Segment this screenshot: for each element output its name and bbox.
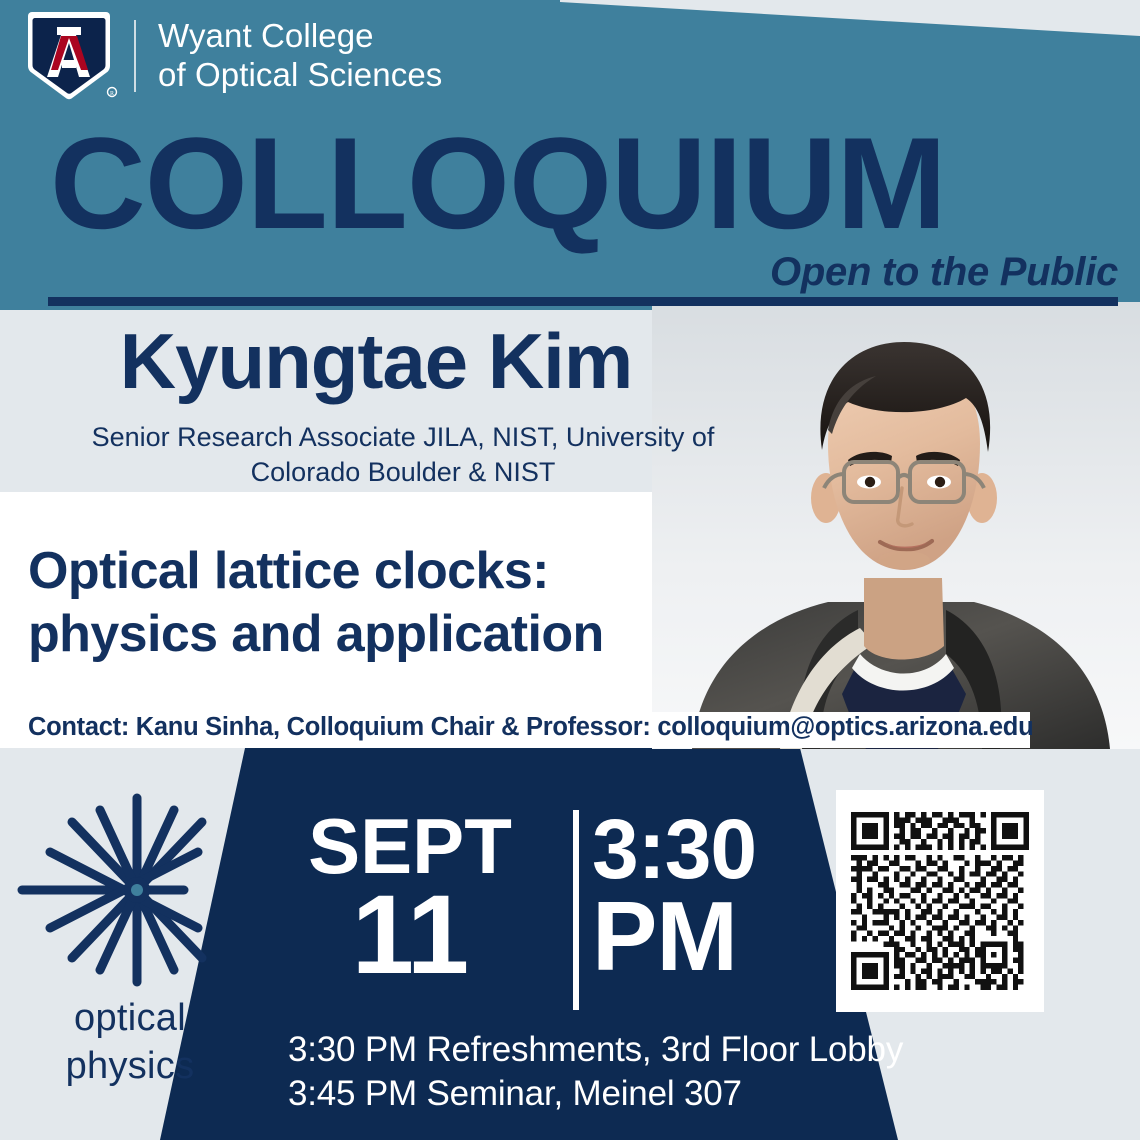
banner-subtitle: Open to the Public	[770, 250, 1118, 295]
colloquium-poster: R Wyant College of Optical Sciences COLL…	[0, 0, 1140, 1140]
qr-code-icon[interactable]	[851, 812, 1029, 990]
college-name: Wyant College of Optical Sciences	[158, 17, 442, 94]
speaker-affiliation: Senior Research Associate JILA, NIST, Un…	[48, 420, 758, 489]
logo-divider	[134, 20, 136, 92]
page-title: COLLOQUIUM	[50, 118, 1131, 248]
laser-starburst-icon	[12, 790, 242, 990]
event-schedule: 3:30 PM Refreshments, 3rd Floor Lobby 3:…	[288, 1028, 1048, 1116]
contact-line[interactable]: Contact: Kanu Sinha, Colloquium Chair & …	[28, 713, 1038, 742]
horizontal-divider	[48, 297, 1118, 306]
event-date: SEPT 11	[285, 810, 535, 986]
optical-physics-label: optical physics	[30, 995, 230, 1090]
date-time-separator	[573, 810, 579, 1010]
qr-code-card[interactable]	[836, 790, 1044, 1012]
event-time-hour: 3:30	[592, 810, 822, 889]
speaker-name: Kyungtae Kim	[0, 322, 752, 400]
university-of-arizona-shield-icon: R	[18, 10, 120, 102]
event-time: 3:30 PM	[592, 810, 822, 983]
talk-title: Optical lattice clocks: physics and appl…	[28, 540, 788, 667]
event-day: 11	[285, 883, 535, 986]
college-logo-lockup: R Wyant College of Optical Sciences	[18, 10, 442, 102]
svg-text:R: R	[110, 91, 114, 97]
event-time-ampm: PM	[592, 889, 822, 983]
